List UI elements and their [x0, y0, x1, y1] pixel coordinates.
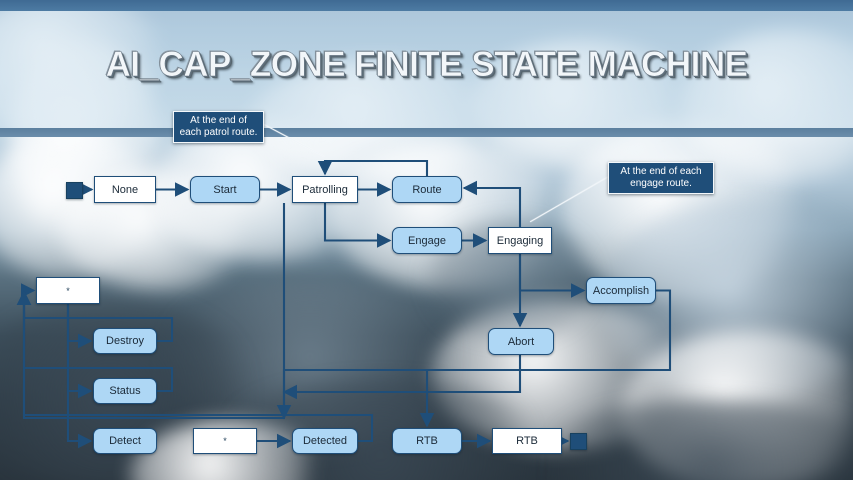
end-terminal-marker	[570, 433, 587, 450]
node-label: Patrolling	[302, 184, 348, 196]
state-node-destroy[interactable]: Destroy	[93, 328, 157, 354]
node-label: Accomplish	[593, 285, 649, 297]
state-node-engage[interactable]: Engage	[392, 227, 462, 254]
state-machine-diagram: None Start Patrolling Route Engage Engag…	[0, 0, 853, 480]
node-label: Destroy	[106, 335, 144, 347]
node-label: *	[223, 436, 227, 446]
node-label: Route	[412, 184, 441, 196]
state-node-wildcard-mid[interactable]: *	[193, 428, 257, 454]
state-node-engaging[interactable]: Engaging	[488, 227, 552, 254]
start-terminal-marker	[66, 182, 83, 199]
node-label: RTB	[416, 435, 438, 447]
state-node-status[interactable]: Status	[93, 378, 157, 404]
node-label: None	[112, 184, 138, 196]
state-node-wildcard-left[interactable]: *	[36, 277, 100, 304]
state-node-none[interactable]: None	[94, 176, 156, 203]
state-node-abort[interactable]: Abort	[488, 328, 554, 355]
state-node-start[interactable]: Start	[190, 176, 260, 203]
engage-callout: At the end of each engage route.	[608, 162, 714, 194]
node-label: Start	[213, 184, 236, 196]
state-node-route[interactable]: Route	[392, 176, 462, 203]
patrol-callout: At the end of each patrol route.	[173, 111, 264, 143]
node-label: Engaging	[497, 235, 544, 247]
callout-text: At the end of each patrol route.	[179, 115, 258, 140]
slide-canvas: AI_CAP_ZONE FINITE STATE MACHINE	[0, 0, 853, 480]
node-label: Detected	[303, 435, 347, 447]
state-node-accomplish[interactable]: Accomplish	[586, 277, 656, 304]
node-label: *	[66, 286, 70, 296]
state-node-rtb-blue[interactable]: RTB	[392, 428, 462, 454]
node-label: Status	[109, 385, 140, 397]
state-node-detected[interactable]: Detected	[292, 428, 358, 454]
callout-text: At the end of each engage route.	[614, 166, 708, 191]
state-node-patrolling[interactable]: Patrolling	[292, 176, 358, 203]
state-node-rtb-white[interactable]: RTB	[492, 428, 562, 454]
node-label: Abort	[508, 336, 534, 348]
node-label: RTB	[516, 435, 538, 447]
node-label: Detect	[109, 435, 141, 447]
node-label: Engage	[408, 235, 446, 247]
state-node-detect[interactable]: Detect	[93, 428, 157, 454]
